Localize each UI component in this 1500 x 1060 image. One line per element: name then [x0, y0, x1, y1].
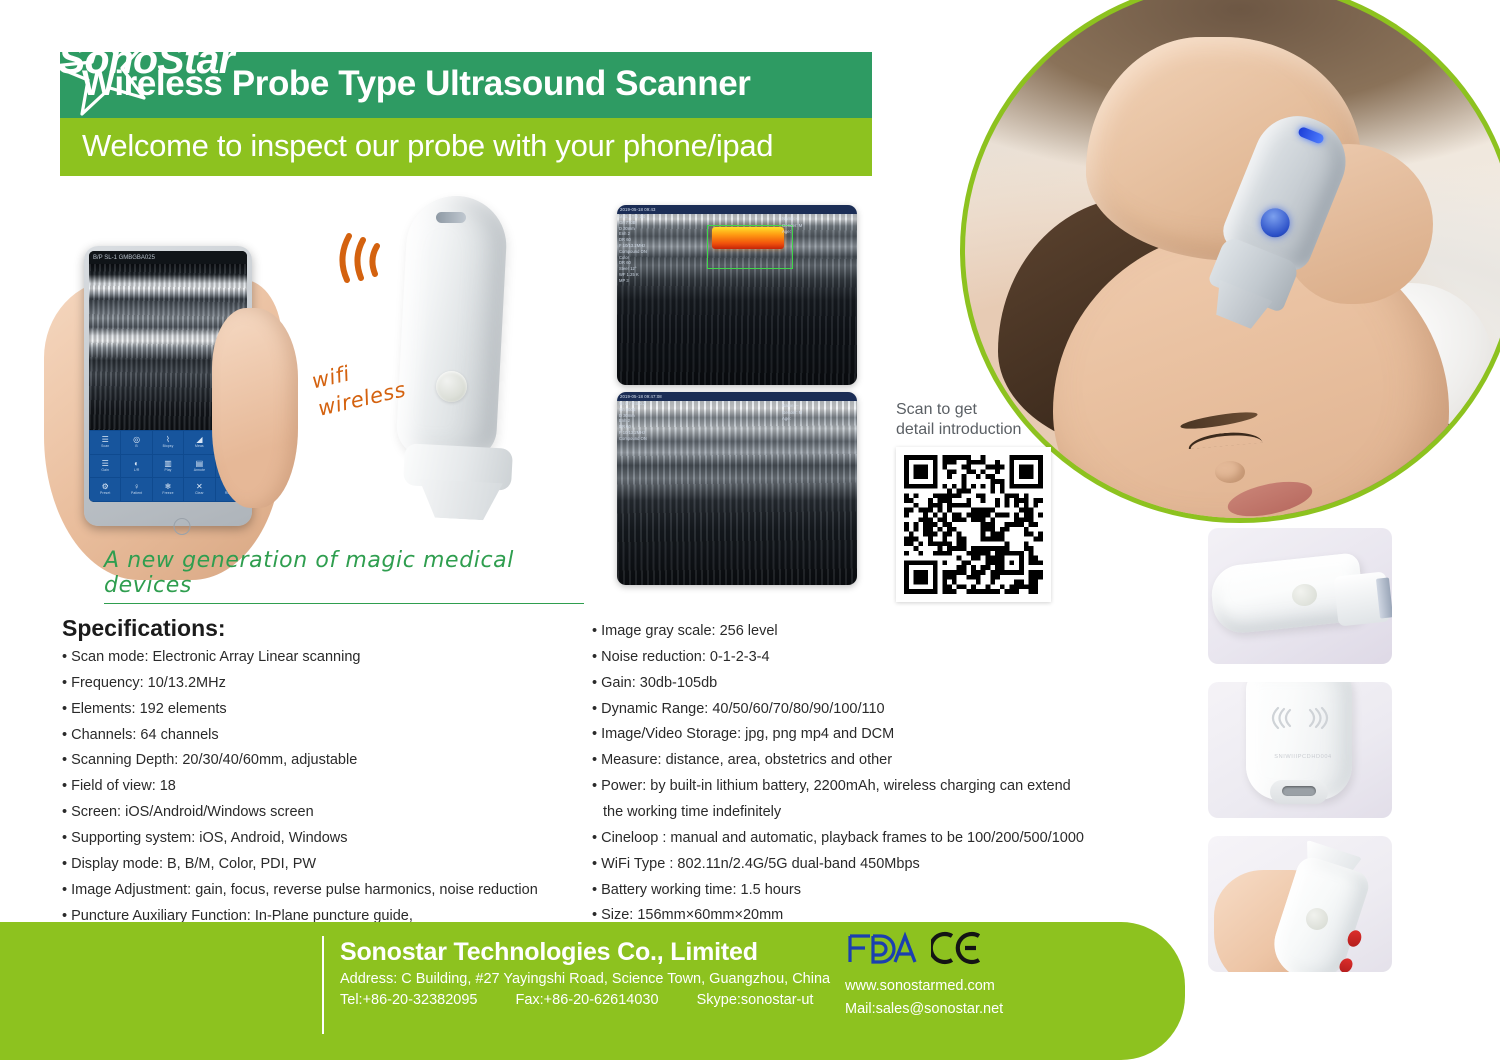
- page-subtitle: Welcome to inspect our probe with your p…: [82, 128, 850, 164]
- qr-section: Scan to get detail introduction: [896, 400, 1056, 602]
- ultrasound-param: F 10/13.2MHz: [619, 431, 673, 435]
- spec-item: • Gain: 30db-105db: [592, 674, 1062, 692]
- subtitle-bar: Welcome to inspect our probe with your p…: [60, 118, 872, 176]
- spec-item: • Power: by built-in lithium battery, 22…: [592, 777, 1062, 795]
- app-button-scan[interactable]: ☰Scan: [90, 431, 120, 454]
- app-button-gain[interactable]: ☰Gain: [90, 455, 120, 478]
- ultrasound-param: MP 3: [619, 279, 673, 283]
- app-button-label: Biopsy: [163, 445, 174, 448]
- app-statusbar: B/P SL-1 GMBGBA025: [89, 251, 247, 264]
- ultrasound-param: F 10/13.2MHz: [619, 244, 673, 248]
- ultrasound-inner: 2019-05-18 09:47:08 MI 0.7 TIS 0.2Gn 80d…: [617, 392, 857, 585]
- app-button-label: Scan: [101, 445, 109, 448]
- company-address: Address: C Building, #27 Yayingshi Road,…: [340, 971, 860, 987]
- app-button-biopsy[interactable]: ⌇Biopsy: [153, 431, 183, 454]
- spec-item: • Scanning Depth: 20/30/40/60mm, adjusta…: [62, 751, 592, 769]
- ultrasound-inner: 2019-05-18 09:43 MI 0.7 TIS 1.0Gn 77dBD …: [617, 205, 857, 385]
- spec-item: • Display mode: B, B/M, Color, PDI, PW: [62, 855, 592, 873]
- ultrasound-param: DR 60: [619, 425, 673, 429]
- ultrasound-param: D 30mm: [619, 414, 673, 418]
- probe-scan-head: [409, 478, 511, 521]
- company-tel: Tel:+86-20-32382095: [340, 992, 477, 1008]
- app-statusbar-text: B/P SL-1 GMBGBA025: [93, 255, 155, 261]
- thumb-fingers: [212, 308, 298, 508]
- spec-item: • Image/Video Storage: jpg, png mp4 and …: [592, 725, 1062, 743]
- ultrasound-param: Enh 2: [619, 419, 673, 423]
- spec-item: • Cineloop : manual and automatic, playb…: [592, 829, 1062, 847]
- spec-item: • Battery working time: 1.5 hours: [592, 881, 1062, 899]
- specifications-title: Specifications:: [62, 615, 226, 642]
- qr-caption: Scan to get detail introduction: [896, 400, 1056, 439]
- qr-caption-line2: detail introduction: [896, 420, 1056, 440]
- ultrasound-param: WF 1.25 K: [619, 273, 673, 277]
- app-button-l/r[interactable]: ◐L/R: [121, 455, 151, 478]
- specifications-column-left: • Scan mode: Electronic Array Linear sca…: [62, 648, 592, 958]
- tagline-text: A new generation of magic medical device…: [104, 548, 584, 604]
- app-button-label: Meas: [195, 445, 204, 448]
- fda-badge-icon: [845, 931, 917, 965]
- hero-eyebrow: [1179, 409, 1258, 432]
- app-button-label: Play: [164, 469, 171, 472]
- app-button-icon: ✕: [196, 483, 203, 491]
- product-photo-probe-in-hand: [1208, 836, 1392, 972]
- company-website[interactable]: www.sonostarmed.com: [845, 978, 1075, 994]
- app-button-meas[interactable]: ◢Meas: [184, 431, 214, 454]
- app-button-label: Preset: [100, 492, 110, 495]
- app-button-icon: ▤: [196, 460, 204, 468]
- spec-item: • Image gray scale: 256 level: [592, 622, 1062, 640]
- app-button-label: Freeze: [162, 492, 173, 495]
- probe-body: [395, 194, 509, 461]
- ultrasound-param: Color: [619, 256, 673, 260]
- contact-row: Tel:+86-20-32382095 Fax:+86-20-62614030 …: [340, 992, 860, 1008]
- ultrasound-param: DR 60: [619, 238, 673, 242]
- spec-item: • Scan mode: Electronic Array Linear sca…: [62, 648, 592, 666]
- app-button-icon: ▥: [164, 460, 172, 468]
- specifications-column-right: • Image gray scale: 256 level• Noise red…: [592, 622, 1062, 958]
- ultrasound-topbar: 2019-05-18 09:47:08: [617, 392, 857, 401]
- spec-item: the working time indefinitely: [592, 803, 1062, 821]
- ultrasound-param: Compound ON: [619, 437, 673, 441]
- ultrasound-screenshot-bmode: 2019-05-18 09:47:08 MI 0.7 TIS 0.2Gn 80d…: [617, 392, 857, 585]
- ultrasound-patient-field: Gender: M: [782, 224, 854, 229]
- ultrasound-screenshot-color-doppler: 2019-05-18 09:43 MI 0.7 TIS 1.0Gn 77dBD …: [617, 205, 857, 385]
- spec-item: • Screen: iOS/Android/Windows screen: [62, 803, 592, 821]
- ultrasound-patient-info: Name: --Gender: MAge:: [782, 404, 854, 422]
- ultrasound-param: D 30mm: [619, 227, 673, 231]
- ultrasound-topbar: 2019-05-18 09:43: [617, 205, 857, 214]
- roi-box: [707, 225, 793, 269]
- certification-badges: [845, 930, 983, 966]
- app-button-label: Gain: [101, 469, 109, 472]
- brand-wordmark: SonoStar: [58, 36, 234, 83]
- phone-home-button[interactable]: [174, 518, 191, 535]
- hero-closed-eye: [1187, 430, 1262, 449]
- ultrasound-parameters-left: MI 0.7 TIS 1.0Gn 77dBD 30mmEnh 2DR 60F 1…: [619, 215, 673, 283]
- app-button-patient[interactable]: ♀Patient: [121, 478, 151, 501]
- footer-divider: [322, 936, 324, 1034]
- ultrasound-param: Compound ON: [619, 250, 673, 254]
- spec-item: • Field of view: 18: [62, 777, 592, 795]
- app-button-preset[interactable]: ⚙Preset: [90, 478, 120, 501]
- spec-item: • Frequency: 10/13.2MHz: [62, 674, 592, 692]
- app-button-icon: ⚙: [102, 483, 109, 491]
- hero-lips: [1225, 476, 1315, 523]
- app-button-label: Annote: [194, 469, 205, 472]
- phone-in-hand-photo: B/P SL-1 GMBGBA025 ☰Scan◎B⌇Biopsy◢Meas☷S…: [62, 228, 302, 538]
- hero-nose: [1215, 461, 1245, 483]
- wifi-signal-icon: [333, 228, 393, 288]
- ultrasound-patient-info: Name: --Gender: MAge:: [782, 217, 854, 235]
- ultrasound-patient-field: Name: --: [782, 217, 854, 222]
- probe-led-indicator: [436, 212, 466, 223]
- ultrasound-parameters-left: MI 0.7 TIS 0.2Gn 80dBD 30mmEnh 2DR 60F 1…: [619, 402, 673, 441]
- spec-item: • Image Adjustment: gain, focus, reverse…: [62, 881, 592, 899]
- ce-badge-icon: [931, 930, 983, 966]
- ultrasound-timestamp: 2019-05-18 09:43: [617, 207, 656, 212]
- app-button-icon: ☰: [102, 436, 109, 444]
- app-button-label: Clear: [195, 492, 204, 495]
- qr-code-image[interactable]: [904, 455, 1043, 594]
- product-photo-probe-back: SNIWIIIPCDHD004: [1208, 682, 1392, 818]
- spec-item: • WiFi Type : 802.11n/2.4G/5G dual-band …: [592, 855, 1062, 873]
- probe-power-button: [1306, 908, 1328, 930]
- ultrasound-param: Steer 12°: [619, 267, 673, 271]
- ultrasound-patient-field: Age:: [782, 417, 854, 422]
- spec-item: • Dynamic Range: 40/50/60/70/80/90/100/1…: [592, 700, 1062, 718]
- app-button-b[interactable]: ◎B: [121, 431, 151, 454]
- product-photo-probe-side: [1208, 528, 1392, 664]
- spec-item: • Measure: distance, area, obstetrics an…: [592, 751, 1062, 769]
- app-button-play[interactable]: ▥Play: [153, 455, 183, 478]
- app-button-icon: ☰: [102, 460, 109, 468]
- ultrasound-param: DR 60: [619, 261, 673, 265]
- app-button-annote[interactable]: ▤Annote: [184, 455, 214, 478]
- company-mail[interactable]: Mail:sales@sonostar.net: [845, 1001, 1075, 1017]
- spec-item: • Channels: 64 channels: [62, 726, 592, 744]
- company-name: Sonostar Technologies Co., Limited: [340, 938, 860, 967]
- ultrasound-param: MI 0.7 TIS 1.0: [619, 215, 673, 219]
- charging-port: [1282, 786, 1316, 796]
- app-button-icon: ◢: [196, 436, 202, 444]
- company-info: Sonostar Technologies Co., Limited Addre…: [340, 938, 860, 1008]
- ultrasound-param: Gn 77dB: [619, 221, 673, 225]
- app-button-label: L/R: [134, 469, 140, 472]
- ultrasound-patient-field: Name: --: [782, 404, 854, 409]
- ultrasound-timestamp: 2019-05-18 09:47:08: [617, 394, 662, 399]
- qr-code-box[interactable]: [896, 447, 1051, 602]
- spec-item: • Elements: 192 elements: [62, 700, 592, 718]
- probe-power-button: [436, 371, 467, 402]
- app-button-icon: ♀: [134, 483, 140, 491]
- app-button-clear[interactable]: ✕Clear: [184, 478, 214, 501]
- web-contact: www.sonostarmed.com Mail:sales@sonostar.…: [845, 978, 1075, 1017]
- ultrasound-patient-field: Gender: M: [782, 411, 854, 416]
- app-button-icon: ⌇: [166, 436, 170, 444]
- spec-item: • Supporting system: iOS, Android, Windo…: [62, 829, 592, 847]
- app-button-icon: ◎: [133, 436, 140, 444]
- company-fax: Fax:+86-20-62614030: [515, 992, 658, 1008]
- app-button-icon: ◐: [134, 460, 139, 468]
- ultrasound-param: Enh 2: [619, 232, 673, 236]
- ultrasound-patient-field: Age:: [782, 230, 854, 235]
- ultrasound-param: Gn 80dB: [619, 408, 673, 412]
- company-skype: Skype:sonostar-ut: [697, 992, 814, 1008]
- app-button-icon: ❄: [165, 483, 172, 491]
- probe-serial-number: SNIWIIIPCDHD004: [1256, 754, 1350, 760]
- qr-caption-line1: Scan to get: [896, 400, 1056, 420]
- wireless-charging-icon: [1264, 706, 1336, 730]
- app-button-label: Patient: [131, 492, 142, 495]
- app-button-freeze[interactable]: ❄Freeze: [153, 478, 183, 501]
- app-button-label: B: [135, 445, 137, 448]
- ultrasound-param: MI 0.7 TIS 0.2: [619, 402, 673, 406]
- spec-item: • Noise reduction: 0-1-2-3-4: [592, 648, 1062, 666]
